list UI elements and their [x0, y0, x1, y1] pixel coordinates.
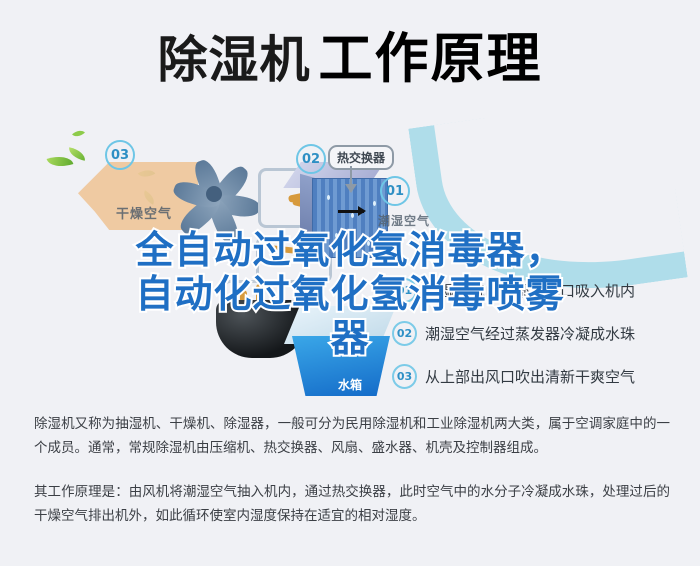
body-paragraph-1: 除湿机又称为抽湿机、干燥机、除湿器，一般可分为民用除湿机和工业除湿机两大类，属于… — [34, 412, 670, 460]
page-header: 除湿机 工作原理 — [0, 0, 700, 118]
condensation-drop — [351, 213, 354, 218]
article-body: 除湿机又称为抽湿机、干燥机、除湿器，一般可分为民用除湿机和工业除湿机两大类，属于… — [34, 412, 670, 548]
condensation-drop — [367, 241, 370, 246]
condensation-drop — [373, 201, 376, 206]
page-root: 除湿机 工作原理 干燥空气 — [0, 0, 700, 566]
condensation-drop — [327, 195, 330, 200]
leaf-icon — [47, 152, 74, 172]
legend-list: 01 潮湿空气由下部进风口吸入机内 02 潮湿空气经过蒸发器冷凝成水珠 03 从… — [392, 278, 692, 396]
fan-hub — [206, 186, 222, 202]
legend-number-02: 02 — [392, 321, 417, 346]
moist-air-label: 潮湿空气 — [378, 212, 430, 229]
water-tank-label: 水箱 — [338, 376, 362, 393]
page-title-secondary: 工作原理 — [319, 32, 543, 86]
legend-number-01: 01 — [392, 278, 417, 303]
dry-air-label: 干燥空气 — [116, 203, 172, 222]
legend-text-03: 从上部出风口吹出清新干爽空气 — [425, 366, 635, 387]
diagram-marker-02: 02 — [296, 144, 326, 174]
diagram-marker-01: 01 — [380, 176, 410, 206]
legend-item: 03 从上部出风口吹出清新干爽空气 — [392, 364, 692, 389]
legend-text-01: 潮湿空气由下部进风口吸入机内 — [425, 280, 635, 301]
airflow-arrow-icon — [338, 210, 364, 213]
body-paragraph-2: 其工作原理是：由风机将潮湿空气抽入机内，通过热交换器，此时空气中的水分子冷凝成水… — [34, 480, 670, 528]
heat-exchanger-callout: 热交换器 — [328, 145, 394, 170]
leaf-icon — [72, 127, 85, 139]
fan-icon — [178, 152, 266, 244]
legend-item: 02 潮湿空气经过蒸发器冷凝成水珠 — [392, 321, 692, 346]
dehumidifier-diagram: 干燥空气 — [0, 118, 700, 396]
callout-pointer-icon — [345, 184, 357, 193]
condensation-drop — [335, 233, 338, 238]
page-title: 除湿机 工作原理 — [158, 32, 543, 86]
compressor-pipe-loop — [222, 280, 282, 297]
legend-text-02: 潮湿空气经过蒸发器冷凝成水珠 — [425, 323, 635, 344]
page-title-primary: 除湿机 — [158, 35, 311, 85]
diagram-marker-03: 03 — [105, 140, 135, 170]
legend-item: 01 潮湿空气由下部进风口吸入机内 — [392, 278, 692, 303]
legend-number-03: 03 — [392, 364, 417, 389]
